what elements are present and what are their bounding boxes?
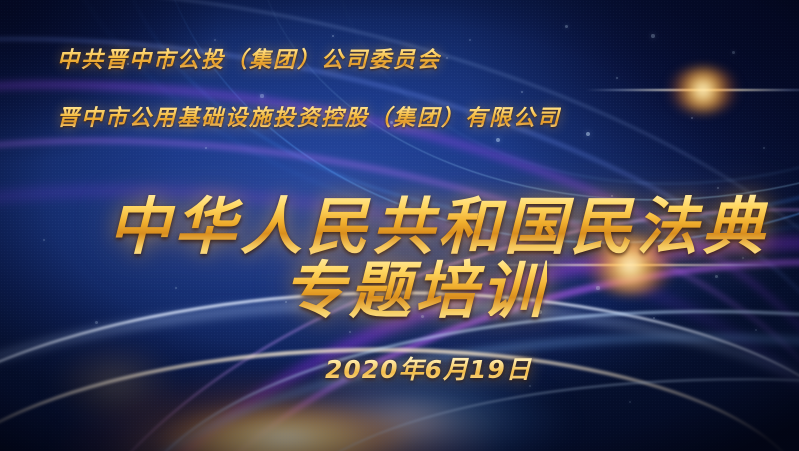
particle-dot — [175, 287, 178, 290]
flare-streak — [585, 89, 799, 91]
presentation-title-slide: 中共晋中市公投（集团）公司委员会 晋中市公用基础设施投资控股（集团）有限公司 中… — [0, 0, 799, 451]
particle-dot — [95, 321, 98, 324]
particle-dot — [332, 35, 334, 37]
particle-dot — [651, 34, 654, 37]
particle-dot — [521, 91, 524, 94]
particle-dot — [732, 51, 735, 54]
particle-dot — [260, 94, 263, 97]
particle-dot — [446, 57, 448, 59]
particle-dot — [214, 39, 216, 41]
particle-dot — [565, 25, 568, 28]
organization-line-1: 中共晋中市公投（集团）公司委员会 — [57, 42, 441, 74]
particle-dot — [691, 117, 694, 120]
flare-core — [666, 67, 740, 113]
particle-dot — [496, 138, 500, 142]
warm-glow-core — [120, 402, 450, 451]
particle-dot — [469, 39, 471, 41]
page-title-line-2: 专题培训 — [283, 240, 547, 330]
particle-dot — [616, 77, 618, 79]
particle-dot — [205, 147, 207, 149]
organization-line-2: 晋中市公用基础设施投资控股（集团）有限公司 — [57, 100, 561, 132]
particle-dot — [43, 239, 45, 241]
particle-dot — [763, 147, 765, 149]
particle-dot — [586, 132, 590, 136]
event-date: 2020年6月19日 — [325, 350, 532, 386]
